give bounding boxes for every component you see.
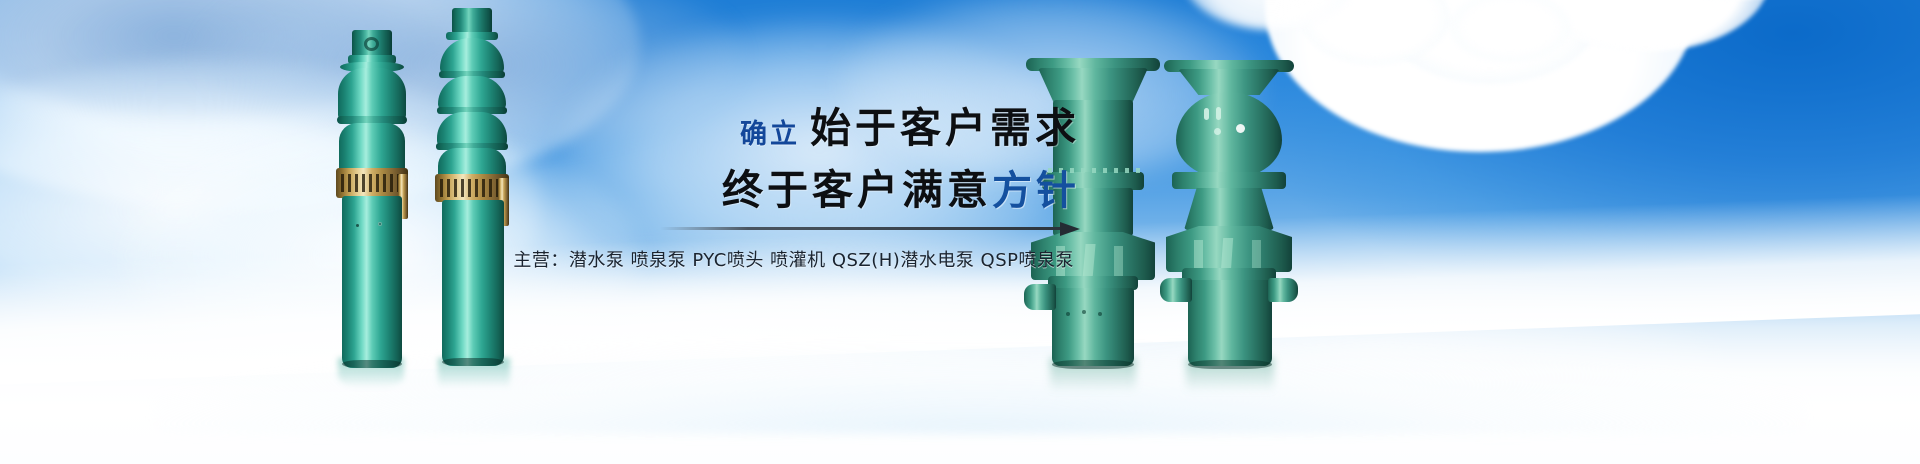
pump-bolt-dot xyxy=(356,224,359,227)
pump-highlight xyxy=(1216,107,1221,120)
intake-slots-icon xyxy=(341,174,403,192)
headline-block: 确立 始于客户需求 终于客户满意 方针 主营：潜水泵 喷泉泵 PYC喷头 喷灌机… xyxy=(560,96,1080,316)
lifting-eye-icon xyxy=(364,37,379,51)
submersible-pump-tall xyxy=(428,8,520,368)
pump-stage-bowl-2 xyxy=(438,76,506,110)
headline-divider xyxy=(560,223,1080,233)
promo-banner: 确立 始于客户需求 终于客户满意 方针 主营：潜水泵 喷泉泵 PYC喷头 喷灌机… xyxy=(0,0,1920,464)
pump-stage-bowl-1 xyxy=(440,38,504,74)
pump-motor-barrel xyxy=(1188,280,1272,366)
headline-accent-keyword: 方针 xyxy=(992,158,1080,216)
pump-lifting-cap xyxy=(452,8,492,34)
pump-bolt-dot xyxy=(1082,310,1086,314)
pump-bulb-casing xyxy=(1176,92,1282,178)
submersible-pump-small xyxy=(330,28,414,368)
pump-side-nozzle xyxy=(1160,278,1192,302)
product-subtitle: 主营：潜水泵 喷泉泵 PYC喷头 喷灌机 QSZ(H)潜水电泵 QSP喷泉泵 xyxy=(513,246,1074,272)
pump-side-nozzle xyxy=(1268,278,1298,302)
headline-lead-keyword: 确立 xyxy=(740,112,800,154)
pump-vane xyxy=(1114,246,1123,280)
pump-bolt-dot xyxy=(1098,312,1102,316)
pump-highlight xyxy=(1204,108,1209,120)
headline-line-1-main: 始于客户需求 xyxy=(810,94,1080,154)
intake-slots-icon xyxy=(440,179,504,197)
arrow-right-icon xyxy=(1060,222,1080,236)
axial-flow-pump-bulb xyxy=(1158,52,1300,368)
pump-highlight xyxy=(1214,128,1221,135)
pump-neck xyxy=(1184,188,1274,230)
headline-line-2: 终于客户满意 方针 xyxy=(560,158,1080,216)
pump-stage-bowl-3 xyxy=(437,112,507,146)
pump-highlight xyxy=(1236,124,1245,133)
divider-line xyxy=(660,227,1060,230)
pump-motor-section xyxy=(339,123,405,171)
pump-bell-housing xyxy=(338,68,406,120)
pump-mid-flange xyxy=(1172,172,1286,189)
pump-main-barrel xyxy=(442,200,504,366)
headline-line-1: 确立 始于客户需求 xyxy=(560,96,1080,154)
pump-bolt-dot xyxy=(378,222,382,226)
headline-line-2-main: 终于客户满意 xyxy=(722,156,992,216)
pump-main-barrel xyxy=(342,196,402,368)
